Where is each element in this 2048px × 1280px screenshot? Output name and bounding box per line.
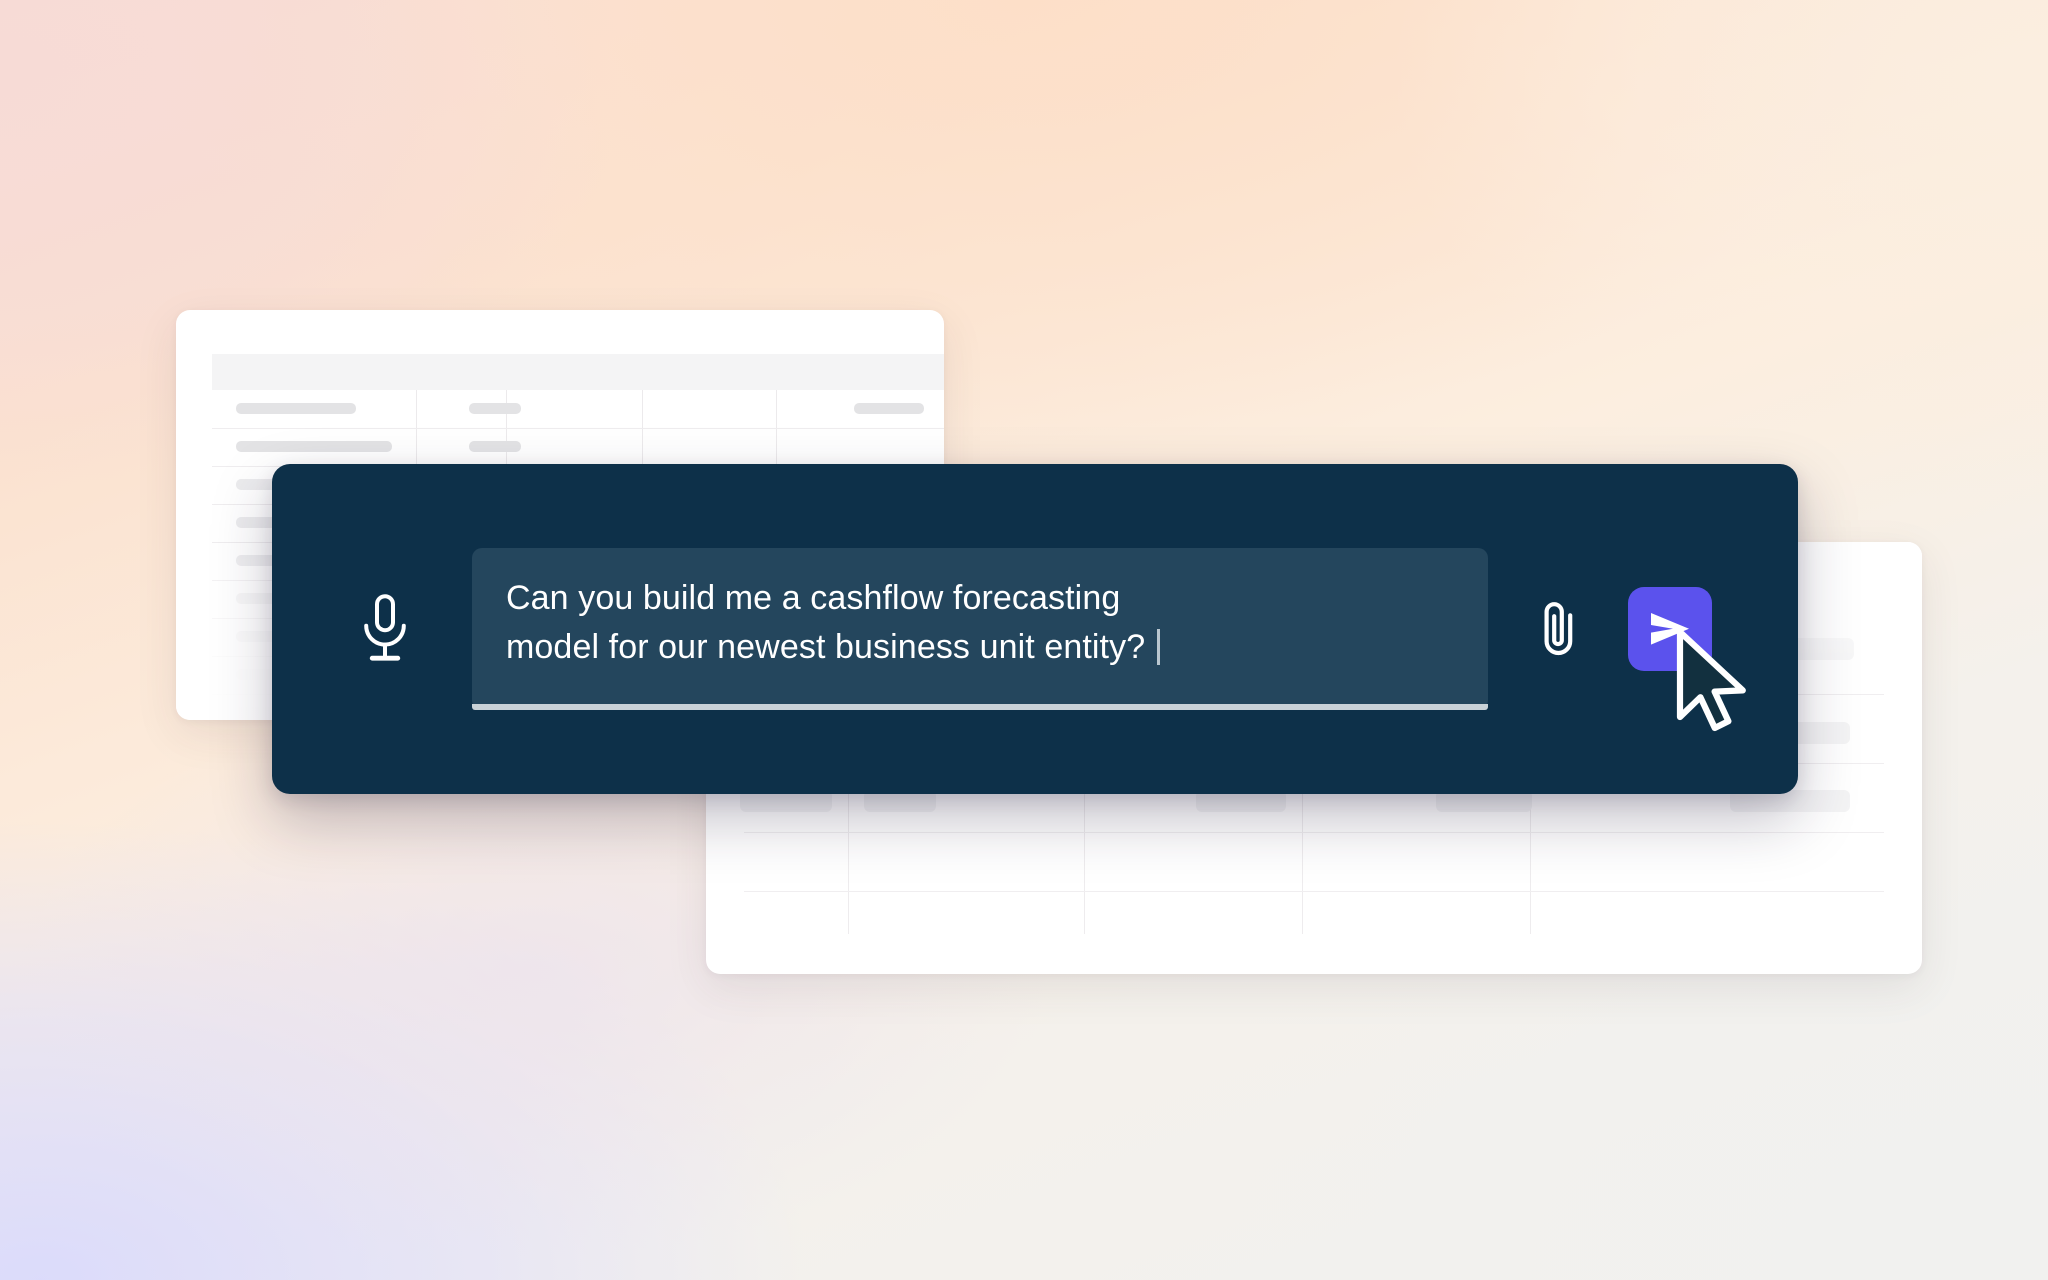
row-divider (744, 891, 1884, 892)
prompt-input[interactable]: Can you build me a cashflow forecasting … (472, 548, 1488, 710)
ai-command-bar: Can you build me a cashflow forecasting … (272, 464, 1798, 794)
prompt-text: Can you build me a cashflow forecasting … (506, 579, 1145, 666)
cell-placeholder (469, 403, 521, 414)
paperclip-icon (1537, 597, 1581, 661)
attach-button[interactable] (1530, 594, 1588, 664)
send-button[interactable] (1628, 587, 1712, 671)
microphone-icon (359, 593, 411, 665)
cell-placeholder (469, 441, 521, 452)
row-divider (212, 428, 944, 429)
send-icon (1647, 609, 1693, 649)
screenshot-stage: Can you build me a cashflow forecasting … (0, 0, 2048, 1280)
row-divider (744, 832, 1884, 833)
table-header-bar (212, 354, 944, 390)
cell-placeholder (236, 441, 392, 452)
input-underline (472, 704, 1488, 710)
cell-placeholder (236, 403, 356, 414)
text-caret (1157, 629, 1160, 665)
cell-placeholder (854, 403, 924, 414)
microphone-button[interactable] (356, 590, 414, 668)
